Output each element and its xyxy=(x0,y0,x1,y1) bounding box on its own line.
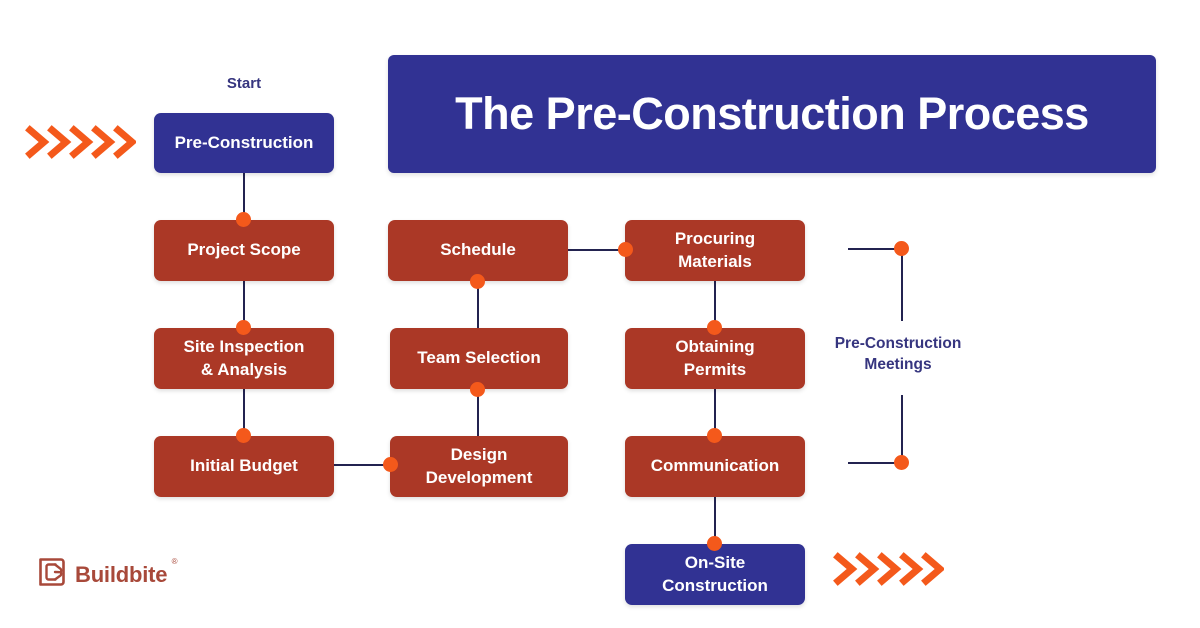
node-initial-budget[interactable]: Initial Budget xyxy=(154,436,334,497)
junction-dot-team-selection xyxy=(470,382,485,397)
node-label-line1: Design xyxy=(451,445,508,464)
node-label: Project Scope xyxy=(187,239,300,261)
node-pre-construction[interactable]: Pre-Construction xyxy=(154,113,334,173)
node-label: Obtaining Permits xyxy=(675,336,754,381)
node-label: Procuring Materials xyxy=(675,228,755,273)
junction-dot-project-scope xyxy=(236,212,251,227)
node-label: Pre-Construction xyxy=(175,132,314,154)
node-label-line2: Construction xyxy=(662,576,768,595)
node-label-line2: Materials xyxy=(678,252,752,271)
node-team-selection[interactable]: Team Selection xyxy=(390,328,568,389)
registered-trademark-icon: ® xyxy=(172,557,178,566)
node-design-development[interactable]: Design Development xyxy=(390,436,568,497)
title-banner: The Pre-Construction Process xyxy=(388,55,1156,173)
node-label-line1: Site Inspection xyxy=(184,337,305,356)
buildbite-logo[interactable]: Buildbite ® xyxy=(36,557,167,592)
diagram-canvas: The Pre-Construction Process Star xyxy=(0,0,1200,628)
node-project-scope[interactable]: Project Scope xyxy=(154,220,334,281)
node-label-line1: On-Site xyxy=(685,553,745,572)
buildbite-logo-icon xyxy=(36,557,66,592)
node-label: Design Development xyxy=(426,444,533,489)
buildbite-wordmark: Buildbite ® xyxy=(75,562,167,588)
node-communication[interactable]: Communication xyxy=(625,436,805,497)
node-label: Schedule xyxy=(440,239,516,261)
node-procuring-materials[interactable]: Procuring Materials xyxy=(625,220,805,281)
bracket-bottom-vertical xyxy=(901,395,903,464)
junction-dot-bracket-bottom xyxy=(894,455,909,470)
junction-dot-site-inspection xyxy=(236,320,251,335)
bracket-top-vertical xyxy=(901,248,903,321)
node-label: Site Inspection & Analysis xyxy=(184,336,305,381)
node-on-site-construction[interactable]: On-Site Construction xyxy=(625,544,805,605)
page-title: The Pre-Construction Process xyxy=(455,88,1089,140)
meetings-label-line2: Meetings xyxy=(864,356,931,373)
buildbite-wordmark-text: Buildbite xyxy=(75,562,167,587)
chevrons-right-decoration xyxy=(832,549,944,589)
node-obtaining-permits[interactable]: Obtaining Permits xyxy=(625,328,805,389)
node-label-line2: Development xyxy=(426,468,533,487)
node-label: Team Selection xyxy=(417,347,540,369)
node-label: Communication xyxy=(651,455,779,477)
junction-dot-schedule xyxy=(470,274,485,289)
junction-dot-initial-budget xyxy=(236,428,251,443)
start-label: Start xyxy=(194,75,294,92)
node-site-inspection-analysis[interactable]: Site Inspection & Analysis xyxy=(154,328,334,389)
node-label-line2: Permits xyxy=(684,360,746,379)
junction-dot-communication xyxy=(707,428,722,443)
node-label-line1: Obtaining xyxy=(675,337,754,356)
chevrons-left-decoration xyxy=(24,122,136,162)
connector-schedule-to-procuringmaterials xyxy=(568,249,625,251)
junction-dot-bracket-top xyxy=(894,241,909,256)
node-schedule[interactable]: Schedule xyxy=(388,220,568,281)
junction-dot-procuring-materials xyxy=(618,242,633,257)
node-label-line1: Procuring xyxy=(675,229,755,248)
node-label: On-Site Construction xyxy=(662,552,768,597)
junction-dot-on-site-construction xyxy=(707,536,722,551)
junction-dot-obtaining-permits xyxy=(707,320,722,335)
node-label-line2: & Analysis xyxy=(201,360,287,379)
connector-initialbudget-to-designdevelopment xyxy=(334,464,390,466)
junction-dot-design-development xyxy=(383,457,398,472)
node-label: Initial Budget xyxy=(190,455,298,477)
pre-construction-meetings-label: Pre-Construction Meetings xyxy=(800,334,996,376)
meetings-label-line1: Pre-Construction xyxy=(835,335,962,352)
